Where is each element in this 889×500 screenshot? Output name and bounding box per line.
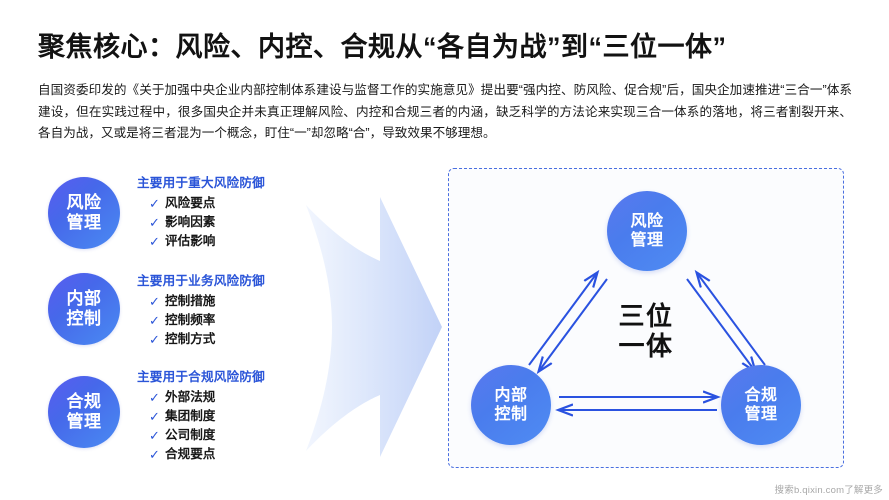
list-item: ✓ 风险要点 — [137, 194, 265, 213]
circle-label-line1: 合规 — [67, 392, 102, 412]
list-item: ✓ 影响因素 — [137, 213, 265, 232]
list-item-label: 风险要点 — [165, 196, 215, 210]
list-item: ✓ 控制措施 — [137, 292, 265, 311]
check-icon: ✓ — [149, 407, 160, 426]
triad-node-label-line1: 内部 — [494, 386, 527, 405]
list-item: ✓ 集团制度 — [137, 407, 265, 426]
intro-paragraph: 自国资委印发的《关于加强中央企业内部控制体系建设与监督工作的实施意见》提出要“强… — [38, 80, 852, 145]
list-item-label: 评估影响 — [165, 234, 215, 248]
list-item-label: 集团制度 — [165, 409, 215, 423]
page-title: 聚焦核心：风险、内控、合规从“各自为战”到“三位一体” — [38, 25, 727, 64]
category-group-compliance-management: 合规 管理 主要用于合规风险防御 ✓ 外部法规 ✓ 集团制度 ✓ 公司制度 — [48, 364, 265, 464]
triad-center-line1: 三位 — [449, 301, 843, 331]
check-icon: ✓ — [149, 292, 160, 311]
left-category-panel: 风险 管理 主要用于重大风险防御 ✓ 风险要点 ✓ 影响因素 ✓ 评估影响 — [38, 168, 338, 480]
bullet-list: ✓ 风险要点 ✓ 影响因素 ✓ 评估影响 — [137, 194, 265, 251]
bullet-block: 主要用于合规风险防御 ✓ 外部法规 ✓ 集团制度 ✓ 公司制度 ✓ 合规要点 — [137, 364, 265, 464]
check-icon: ✓ — [149, 213, 160, 232]
list-item: ✓ 控制频率 — [137, 311, 265, 330]
bullet-heading: 主要用于合规风险防御 — [137, 366, 265, 385]
bullet-block: 主要用于重大风险防御 ✓ 风险要点 ✓ 影响因素 ✓ 评估影响 — [137, 170, 265, 251]
circle-label-line2: 管理 — [67, 213, 102, 233]
triad-node-label-line2: 控制 — [494, 405, 527, 424]
list-item: ✓ 公司制度 — [137, 426, 265, 445]
check-icon: ✓ — [149, 445, 160, 464]
intro-text: 自国资委印发的《关于加强中央企业内部控制体系建设与监督工作的实施意见》提出要“强… — [38, 80, 852, 145]
list-item-label: 控制方式 — [165, 332, 215, 346]
circle-label-line2: 控制 — [67, 309, 102, 329]
triad-node-compliance-management[interactable]: 合规 管理 — [721, 365, 801, 445]
triad-center-label: 三位 一体 — [449, 301, 843, 361]
list-item-label: 公司制度 — [165, 428, 215, 442]
list-item: ✓ 合规要点 — [137, 445, 265, 464]
list-item-label: 控制措施 — [165, 294, 215, 308]
triad-diagram-panel: 风险 管理 内部 控制 合规 管理 三位 一体 — [448, 168, 844, 468]
bullet-heading: 主要用于重大风险防御 — [137, 172, 265, 191]
bullet-list: ✓ 控制措施 ✓ 控制频率 ✓ 控制方式 — [137, 292, 265, 349]
category-group-risk-management: 风险 管理 主要用于重大风险防御 ✓ 风险要点 ✓ 影响因素 ✓ 评估影响 — [48, 170, 265, 251]
check-icon: ✓ — [149, 330, 160, 349]
triad-node-risk-management[interactable]: 风险 管理 — [607, 191, 687, 271]
check-icon: ✓ — [149, 232, 160, 251]
list-item: ✓ 评估影响 — [137, 232, 265, 251]
list-item: ✓ 控制方式 — [137, 330, 265, 349]
triad-node-label-line1: 风险 — [630, 212, 663, 231]
circle-compliance-management[interactable]: 合规 管理 — [48, 376, 120, 448]
triad-node-internal-control[interactable]: 内部 控制 — [471, 365, 551, 445]
check-icon: ✓ — [149, 388, 160, 407]
list-item-label: 合规要点 — [165, 447, 215, 461]
circle-risk-management[interactable]: 风险 管理 — [48, 177, 120, 249]
bullet-block: 主要用于业务风险防御 ✓ 控制措施 ✓ 控制频率 ✓ 控制方式 — [137, 268, 265, 349]
bullet-heading: 主要用于业务风险防御 — [137, 270, 265, 289]
triad-node-label-line1: 合规 — [744, 386, 777, 405]
category-group-internal-control: 内部 控制 主要用于业务风险防御 ✓ 控制措施 ✓ 控制频率 ✓ 控制方式 — [48, 268, 265, 349]
footer-watermark: 搜索b.qixin.com了解更多 — [775, 482, 883, 496]
bullet-list: ✓ 外部法规 ✓ 集团制度 ✓ 公司制度 ✓ 合规要点 — [137, 388, 265, 464]
list-item-label: 控制频率 — [165, 313, 215, 327]
list-item-label: 影响因素 — [165, 215, 215, 229]
circle-label-line1: 风险 — [67, 193, 102, 213]
check-icon: ✓ — [149, 194, 160, 213]
circle-label-line2: 管理 — [67, 412, 102, 432]
triad-node-label-line2: 管理 — [744, 405, 777, 424]
triad-node-label-line2: 管理 — [630, 231, 663, 250]
circle-label-line1: 内部 — [67, 289, 102, 309]
right-arrow-icon — [306, 183, 446, 473]
list-item: ✓ 外部法规 — [137, 388, 265, 407]
check-icon: ✓ — [149, 426, 160, 445]
check-icon: ✓ — [149, 311, 160, 330]
transition-arrow — [306, 183, 446, 473]
triad-center-line2: 一体 — [449, 331, 843, 361]
list-item-label: 外部法规 — [165, 390, 215, 404]
circle-internal-control[interactable]: 内部 控制 — [48, 273, 120, 345]
